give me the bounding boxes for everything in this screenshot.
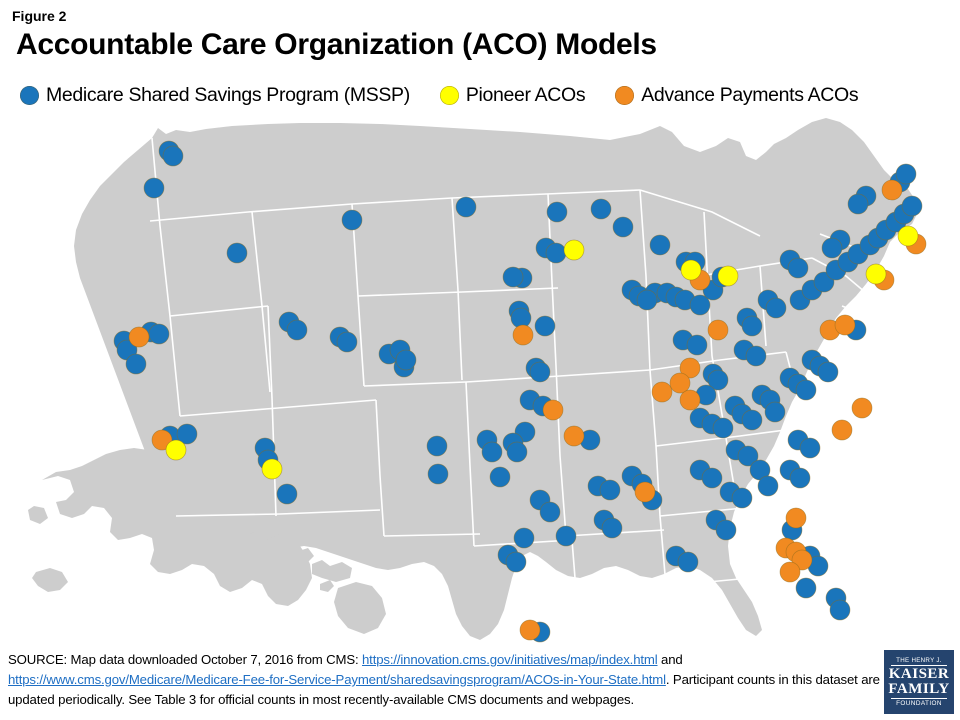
aco-dot-mssp[interactable] [896,164,916,184]
legend-item-pioneer: Pioneer ACOs [440,84,585,107]
aco-dot-pioneer[interactable] [898,226,918,246]
aco-dot-mssp[interactable] [818,362,838,382]
logo-line-1: THE HENRY J. [891,657,947,666]
aco-dot-mssp[interactable] [163,146,183,166]
aco-dot-pioneer[interactable] [166,440,186,460]
aco-dot-mssp[interactable] [602,518,622,538]
aco-dot-advance-payment[interactable] [670,373,690,393]
logo-line-4: FOUNDATION [891,698,947,707]
aco-dot-mssp[interactable] [507,442,527,462]
circle-marker-icon-blue [20,86,39,105]
aco-dot-mssp[interactable] [591,199,611,219]
aco-dot-advance-payment[interactable] [708,320,728,340]
aco-dot-mssp[interactable] [149,324,169,344]
aco-dot-pioneer[interactable] [262,459,282,479]
aco-dot-mssp[interactable] [277,484,297,504]
aco-dot-mssp[interactable] [758,476,778,496]
legend-item-mssp: Medicare Shared Savings Program (MSSP) [20,84,410,107]
aco-dot-advance-payment[interactable] [564,426,584,446]
aco-dot-mssp[interactable] [428,464,448,484]
aco-dot-mssp[interactable] [490,467,510,487]
aco-dot-mssp[interactable] [144,178,164,198]
aco-dot-mssp[interactable] [547,202,567,222]
source-link-innovation-cms[interactable]: https://innovation.cms.gov/initiatives/m… [362,652,658,667]
logo-line-3: FAMILY [888,682,949,697]
legend-label-advance-payments: Advance Payments ACOs [641,84,858,107]
aco-dot-advance-payment[interactable] [786,508,806,528]
aco-dot-mssp[interactable] [637,290,657,310]
aco-dot-mssp[interactable] [742,316,762,336]
aco-dot-mssp[interactable] [514,528,534,548]
aco-dot-mssp[interactable] [796,578,816,598]
aco-dot-advance-payment[interactable] [543,400,563,420]
aco-dot-advance-payment[interactable] [780,562,800,582]
aco-dot-mssp[interactable] [427,436,447,456]
aco-dot-mssp[interactable] [713,418,733,438]
aco-dot-mssp[interactable] [746,346,766,366]
aco-dot-mssp[interactable] [830,600,850,620]
aco-dot-mssp[interactable] [732,488,752,508]
aco-dot-advance-payment[interactable] [513,325,533,345]
legend-item-advance-payments: Advance Payments ACOs [615,84,858,107]
aco-dot-mssp[interactable] [766,298,786,318]
aco-dot-mssp[interactable] [337,332,357,352]
footnote-line1-prefix: SOURCE: Map data downloaded October 7, 2… [8,652,362,667]
aco-dot-mssp[interactable] [902,196,922,216]
aco-dot-mssp[interactable] [822,238,842,258]
aco-dot-mssp[interactable] [742,410,762,430]
aco-dot-mssp[interactable] [796,380,816,400]
aco-dot-mssp[interactable] [716,520,736,540]
aco-dot-mssp[interactable] [530,362,550,382]
figure-label: Figure 2 [12,8,66,24]
aco-dot-mssp[interactable] [800,438,820,458]
aco-dot-advance-payment[interactable] [520,620,540,640]
footnote-line1-suffix: and [658,652,683,667]
aco-dot-mssp[interactable] [540,502,560,522]
aco-dot-mssp[interactable] [788,258,808,278]
aco-dot-mssp[interactable] [227,243,247,263]
aco-dot-mssp[interactable] [396,350,416,370]
aco-dot-advance-payment[interactable] [882,180,902,200]
aco-dot-mssp[interactable] [287,320,307,340]
aco-dot-pioneer[interactable] [681,260,701,280]
aco-dot-mssp[interactable] [482,442,502,462]
aco-dot-mssp[interactable] [678,552,698,572]
legend: Medicare Shared Savings Program (MSSP) P… [20,84,858,107]
aco-dot-advance-payment[interactable] [635,482,655,502]
aco-dot-advance-payment[interactable] [129,327,149,347]
aco-dot-advance-payment[interactable] [852,398,872,418]
kaiser-family-foundation-logo: THE HENRY J. KAISER FAMILY FOUNDATION [884,650,954,714]
aco-dot-mssp[interactable] [456,197,476,217]
aco-dot-pioneer[interactable] [718,266,738,286]
aco-dot-mssp[interactable] [503,267,523,287]
aco-dot-mssp[interactable] [342,210,362,230]
aco-dot-mssp[interactable] [687,335,707,355]
aco-dot-mssp[interactable] [613,217,633,237]
aco-dot-mssp[interactable] [506,552,526,572]
aco-dot-advance-payment[interactable] [652,382,672,402]
aco-dot-pioneer[interactable] [564,240,584,260]
source-footnote: SOURCE: Map data downloaded October 7, 2… [8,650,888,710]
circle-marker-icon-yellow [440,86,459,105]
aco-dot-mssp[interactable] [546,243,566,263]
legend-label-mssp: Medicare Shared Savings Program (MSSP) [46,84,410,107]
aco-dot-mssp[interactable] [650,235,670,255]
aco-dot-mssp[interactable] [790,468,810,488]
us-map [0,116,960,646]
aco-dot-advance-payment[interactable] [680,390,700,410]
aco-dot-mssp[interactable] [765,402,785,422]
aco-dot-mssp[interactable] [848,194,868,214]
page-title: Accountable Care Organization (ACO) Mode… [16,28,657,62]
aco-dot-mssp[interactable] [702,468,722,488]
legend-label-pioneer: Pioneer ACOs [466,84,585,107]
aco-dot-advance-payment[interactable] [835,315,855,335]
logo-line-2: KAISER [889,667,950,682]
aco-dot-pioneer[interactable] [866,264,886,284]
aco-dot-mssp[interactable] [600,480,620,500]
circle-marker-icon-orange [615,86,634,105]
aco-dot-mssp[interactable] [535,316,555,336]
source-link-cms-aco-state[interactable]: https://www.cms.gov/Medicare/Medicare-Fe… [8,672,666,687]
aco-dot-mssp[interactable] [556,526,576,546]
aco-dot-advance-payment[interactable] [832,420,852,440]
aco-dot-mssp[interactable] [126,354,146,374]
